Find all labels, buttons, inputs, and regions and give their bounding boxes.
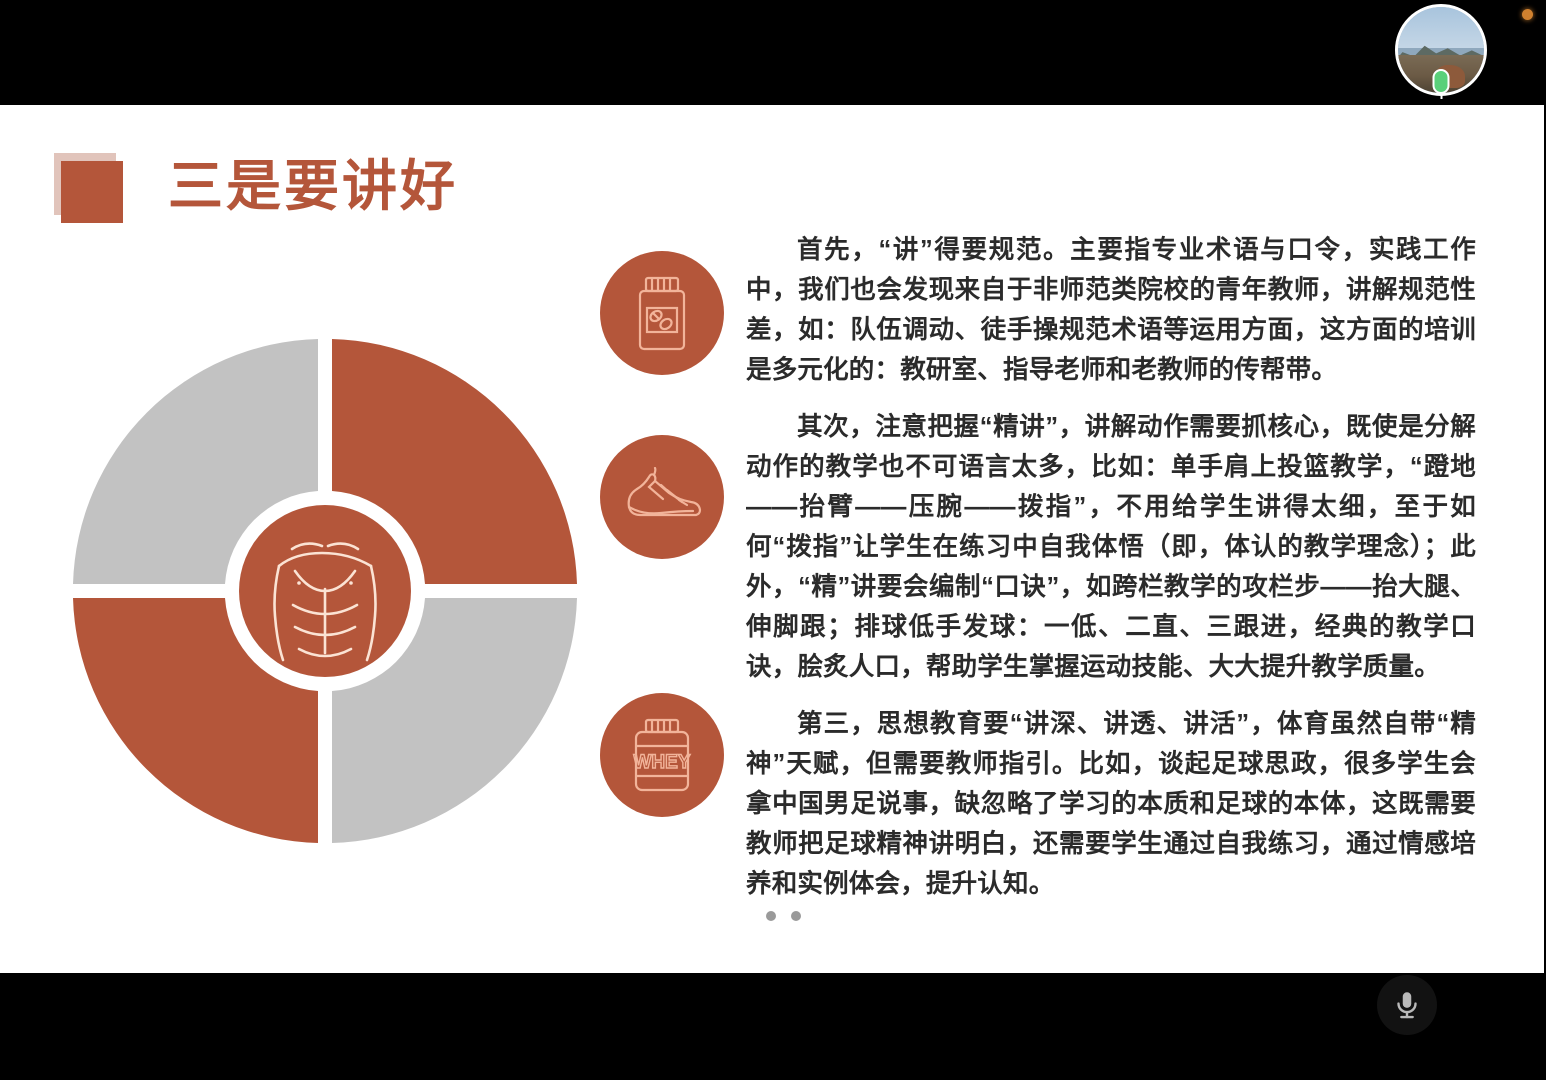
pagination-dot-1[interactable] xyxy=(766,911,776,921)
running-shoe-icon xyxy=(621,467,703,527)
meeting-screen: 徐家林的屏幕共享 三是要讲好 xyxy=(0,0,1546,1080)
slide-body-text: 首先，“讲”得要规范。主要指专业术语与口令，实践工作中，我们也会发现来自于非师范… xyxy=(746,230,1476,921)
paragraph-2: 其次，注意把握“精讲”，讲解动作需要抓核心，既使是分解动作的教学也不可语言太多，… xyxy=(746,407,1476,687)
paragraph-1: 首先，“讲”得要规范。主要指专业术语与口令，实践工作中，我们也会发现来自于非师范… xyxy=(746,230,1476,390)
donut-quadrant-graphic xyxy=(60,333,590,853)
whey-protein-icon: WHEY xyxy=(627,716,697,794)
microphone-muted-button[interactable] xyxy=(1377,975,1437,1035)
avatar-sky xyxy=(1398,7,1484,48)
paragraph-3: 第三，思想教育要“讲深、讲透、讲活”，体育虽然自带“精神”天赋，但需要教师指引。… xyxy=(746,704,1476,904)
microphone-muted-icon xyxy=(1390,988,1424,1022)
recording-indicator-dot xyxy=(1522,9,1533,20)
slide-title-row: 三是要讲好 xyxy=(54,153,458,219)
microphone-active-icon xyxy=(1433,69,1450,94)
title-decoration-square xyxy=(54,153,120,219)
shared-slide: 三是要讲好 xyxy=(0,105,1544,973)
supplement-bottle-icon xyxy=(628,274,696,352)
participant-avatar[interactable] xyxy=(1395,4,1487,96)
donut-svg xyxy=(60,333,590,853)
supplement-bottle-icon-circle xyxy=(600,251,724,375)
pagination-dot-2[interactable] xyxy=(791,911,801,921)
whey-protein-icon-circle: WHEY xyxy=(600,693,724,817)
title-square-solid xyxy=(61,161,123,223)
running-shoe-icon-circle xyxy=(600,435,724,559)
pagination-dots[interactable] xyxy=(766,911,801,921)
page-title: 三是要讲好 xyxy=(168,159,458,214)
whey-label: WHEY xyxy=(634,752,691,773)
